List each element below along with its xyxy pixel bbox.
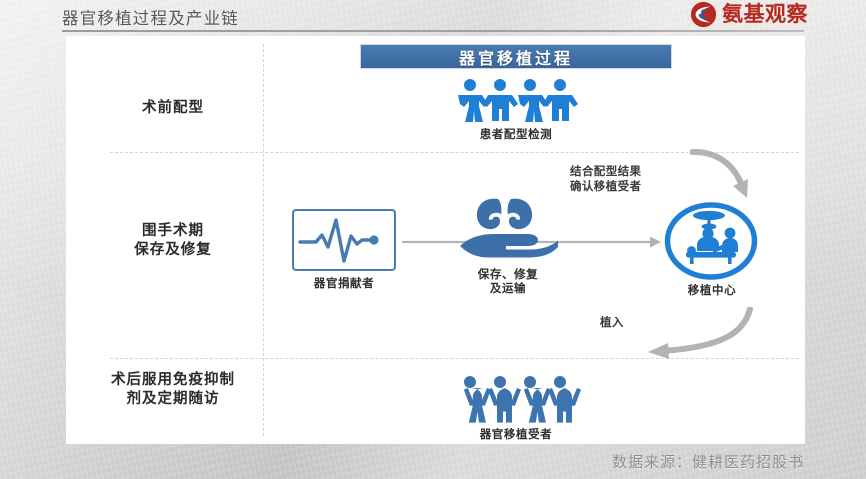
arrow-implant-curve <box>622 307 754 363</box>
brand-logo: 氨基观察 <box>690 1 808 28</box>
four-people-holding-hands-icon <box>450 78 582 126</box>
diagram-title-banner: 器官移植过程 <box>360 44 672 69</box>
ecg-heartbeat-icon <box>294 211 394 269</box>
row-label-postop-followup: 术后服用免疫抑制 剂及定期随访 <box>90 371 256 409</box>
brand-swoosh-icon <box>690 1 717 28</box>
source-text: 数据来源：健耕医药招股书 <box>612 451 804 472</box>
diagram-card: 器官移植过程 术前配型 围手术期 保存及修复 术后服用免疫抑制 剂及定期随访 <box>66 36 805 444</box>
slide-screenshot: 器官移植过程及产业链 氨基观察 器官移植过程 术前配型 围手术期 保存 <box>0 0 866 479</box>
brand-name: 氨基观察 <box>722 4 808 25</box>
surgery-operating-room-circle-icon <box>664 202 758 280</box>
caption-transplant-center: 移植中心 <box>662 284 762 298</box>
slide-header: 器官移植过程及产业链 氨基观察 <box>0 0 866 33</box>
four-people-arms-raised-icon <box>452 370 582 424</box>
caption-patient-matching: 患者配型检测 <box>448 128 584 142</box>
diagram-title-label: 器官移植过程 <box>459 45 573 69</box>
header-divider-rule <box>62 30 804 32</box>
label-column-divider <box>263 44 264 436</box>
arrow-match-curve <box>690 148 760 210</box>
row-label-preop-matching: 术前配型 <box>90 99 256 118</box>
page-title: 器官移植过程及产业链 <box>62 5 239 29</box>
organ-donor-box <box>292 209 396 271</box>
annotation-match-confirm: 结合配型结果 确认移植受者 <box>570 165 700 195</box>
caption-preserve-transport: 保存、修复 及运输 <box>444 268 572 296</box>
caption-organ-donor: 器官捐献者 <box>282 277 406 291</box>
source-bar: 数据来源：健耕医药招股书 <box>0 443 866 479</box>
row-label-perioperative: 围手术期 保存及修复 <box>90 222 256 260</box>
caption-recipients: 器官移植受者 <box>448 428 584 442</box>
kidneys-on-hand-icon <box>454 194 560 260</box>
